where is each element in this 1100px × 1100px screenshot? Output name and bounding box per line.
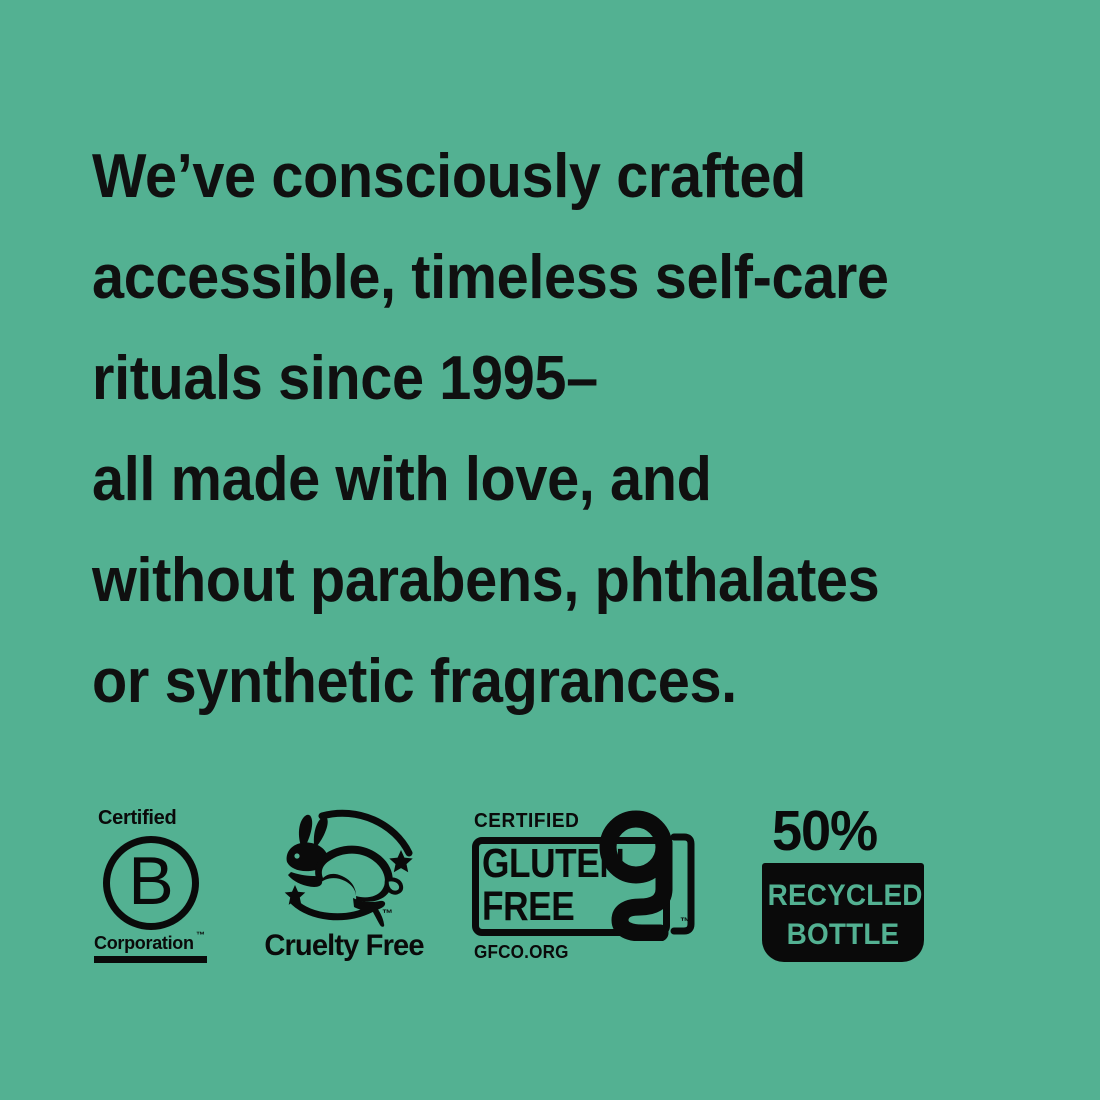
badge-cruelty-free: ™ Cruelty Free	[255, 806, 433, 966]
gluten-free-url-label: GFCO.ORG	[474, 943, 569, 961]
cruelty-free-trademark-icon: ™	[382, 908, 393, 920]
cruelty-free-label: Cruelty Free	[258, 930, 431, 962]
b-corp-letter: B	[110, 843, 192, 923]
b-corp-certified-label: Certified	[98, 808, 176, 828]
headline-line-1: We’ve consciously crafted	[92, 126, 976, 227]
gluten-free-trademark-icon: ™	[680, 916, 691, 928]
badge-b-corporation: Certified B Corporation ™	[92, 806, 214, 966]
headline-line-2: accessible, timeless self-care	[92, 227, 976, 328]
headline-line-4: all made with love, and	[92, 429, 976, 530]
badge-recycled-bottle: 50% RECYCLED BOTTLE	[756, 806, 932, 966]
leaping-bunny-icon	[261, 806, 427, 928]
b-corp-trademark-icon: ™	[196, 930, 205, 940]
gluten-free-certified-label: CERTIFIED	[474, 811, 579, 831]
headline-block: We’ve consciously crafted accessible, ti…	[92, 126, 1042, 732]
recycled-line-1: RECYCLED	[768, 881, 919, 911]
certification-badge-row: Certified B Corporation ™	[92, 806, 932, 966]
headline-line-5: without parabens, phthalates	[92, 530, 976, 631]
recycled-line-2: BOTTLE	[768, 920, 919, 950]
promo-card: We’ve consciously crafted accessible, ti…	[0, 0, 1100, 1100]
b-corp-underline-rule	[94, 956, 207, 963]
recycled-bottle-icon: RECYCLED BOTTLE	[762, 863, 924, 962]
headline-line-6: or synthetic fragrances.	[92, 631, 976, 732]
badge-certified-gluten-free: CERTIFIED GLUTEN FREE	[470, 806, 706, 966]
headline-line-3: rituals since 1995–	[92, 328, 976, 429]
recycled-percent-value: 50%	[772, 803, 877, 860]
b-corp-corporation-label: Corporation	[94, 934, 194, 952]
b-corp-icon: B	[103, 836, 199, 930]
